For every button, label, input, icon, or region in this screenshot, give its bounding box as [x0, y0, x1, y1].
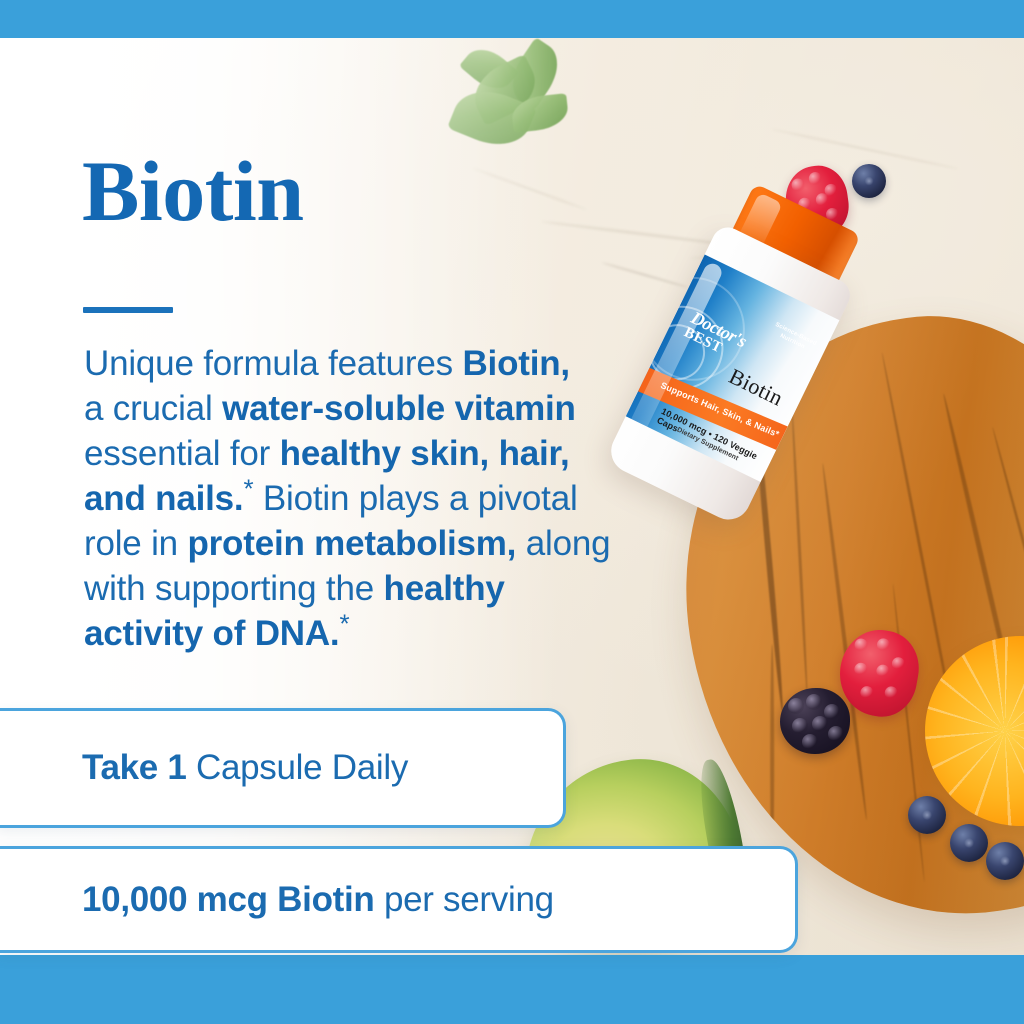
- blueberry: [852, 164, 886, 198]
- copy-segment-bold: and nails.: [84, 479, 243, 518]
- copy-segment-bold: healthy: [384, 569, 505, 608]
- title-divider-rule: [83, 307, 173, 313]
- body-copy: Unique formula features Biotin, a crucia…: [84, 341, 684, 656]
- top-accent-bar: [0, 0, 1024, 38]
- callout-potency-text: 10,000 mcg Biotin per serving: [82, 880, 554, 920]
- callout-potency-plain: per serving: [375, 880, 554, 919]
- copy-segment: a crucial: [84, 389, 222, 428]
- copy-segment-bold: healthy skin, hair,: [280, 434, 570, 473]
- copy-segment-bold: Biotin,: [462, 344, 569, 383]
- copy-segment: with supporting the: [84, 569, 384, 608]
- brand-tagline: Science-Based Nutrition: [763, 317, 826, 359]
- callout-dosage-text: Take 1 Capsule Daily: [82, 748, 408, 788]
- copy-segment: Unique formula features: [84, 344, 462, 383]
- asterisk-mark: *: [339, 608, 349, 638]
- asterisk-mark: *: [243, 473, 253, 503]
- copy-segment-bold: protein metabolism,: [187, 524, 516, 563]
- copy-segment: Biotin plays a pivotal: [253, 479, 577, 518]
- blueberry: [908, 796, 946, 834]
- copy-segment: essential for: [84, 434, 280, 473]
- page-title: Biotin: [82, 148, 304, 234]
- blackberry: [780, 688, 850, 754]
- copy-segment-bold: water-soluble vitamin: [222, 389, 576, 428]
- callout-dosage-bold: Take 1: [82, 748, 187, 787]
- callout-dosage-plain: Capsule Daily: [187, 748, 408, 787]
- blueberry: [950, 824, 988, 862]
- copy-segment: role in: [84, 524, 187, 563]
- bottom-accent-bar: [0, 955, 1024, 1024]
- copy-segment: along: [516, 524, 610, 563]
- callout-dosage: Take 1 Capsule Daily: [0, 708, 566, 828]
- callout-potency-bold: 10,000 mcg Biotin: [82, 880, 375, 919]
- copy-panel: Biotin Unique formula features Biotin, a…: [0, 38, 560, 698]
- callout-potency: 10,000 mcg Biotin per serving: [0, 846, 798, 953]
- copy-segment-bold: activity of DNA.: [84, 614, 339, 653]
- promo-graphic: Doctor's BEST Science-Based Nutrition Bi…: [0, 0, 1024, 1024]
- blueberry: [986, 842, 1024, 880]
